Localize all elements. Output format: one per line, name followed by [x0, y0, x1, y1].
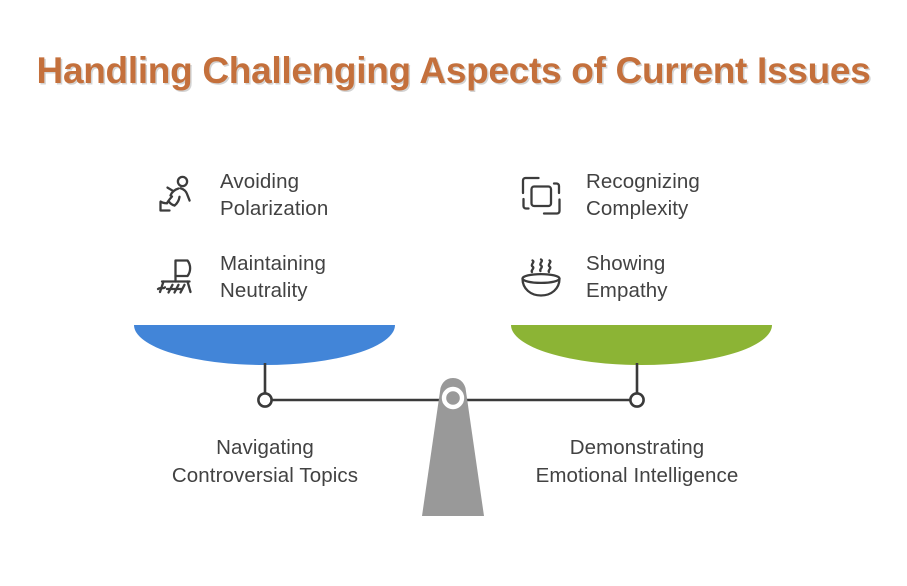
feature-label: Avoiding Polarization — [220, 168, 328, 222]
person-slipping-icon — [148, 168, 202, 222]
feature-showing-empathy[interactable]: Showing Empathy — [514, 250, 668, 304]
slide-canvas: Handling Challenging Aspects of Current … — [0, 0, 907, 586]
left-caption: Navigating Controversial Topics — [110, 434, 420, 490]
feature-avoiding-polarization[interactable]: Avoiding Polarization — [148, 168, 328, 222]
left-hanger-ring — [258, 393, 271, 406]
feature-label: Recognizing Complexity — [586, 168, 700, 222]
right-hanger-ring — [630, 393, 643, 406]
feature-maintaining-neutrality[interactable]: Maintaining Neutrality — [148, 250, 326, 304]
steaming-bowl-icon — [514, 250, 568, 304]
sailboat-icon — [148, 250, 202, 304]
right-pan — [511, 325, 772, 365]
page-title: Handling Challenging Aspects of Current … — [0, 50, 907, 92]
feature-label: Showing Empathy — [586, 250, 668, 304]
feature-recognizing-complexity[interactable]: Recognizing Complexity — [514, 168, 700, 222]
right-caption: Demonstrating Emotional Intelligence — [482, 434, 792, 490]
left-pan — [134, 325, 395, 365]
feature-label: Maintaining Neutrality — [220, 250, 326, 304]
fulcrum — [422, 378, 484, 516]
stacked-layers-icon — [514, 168, 568, 222]
pivot-ring — [444, 389, 462, 407]
